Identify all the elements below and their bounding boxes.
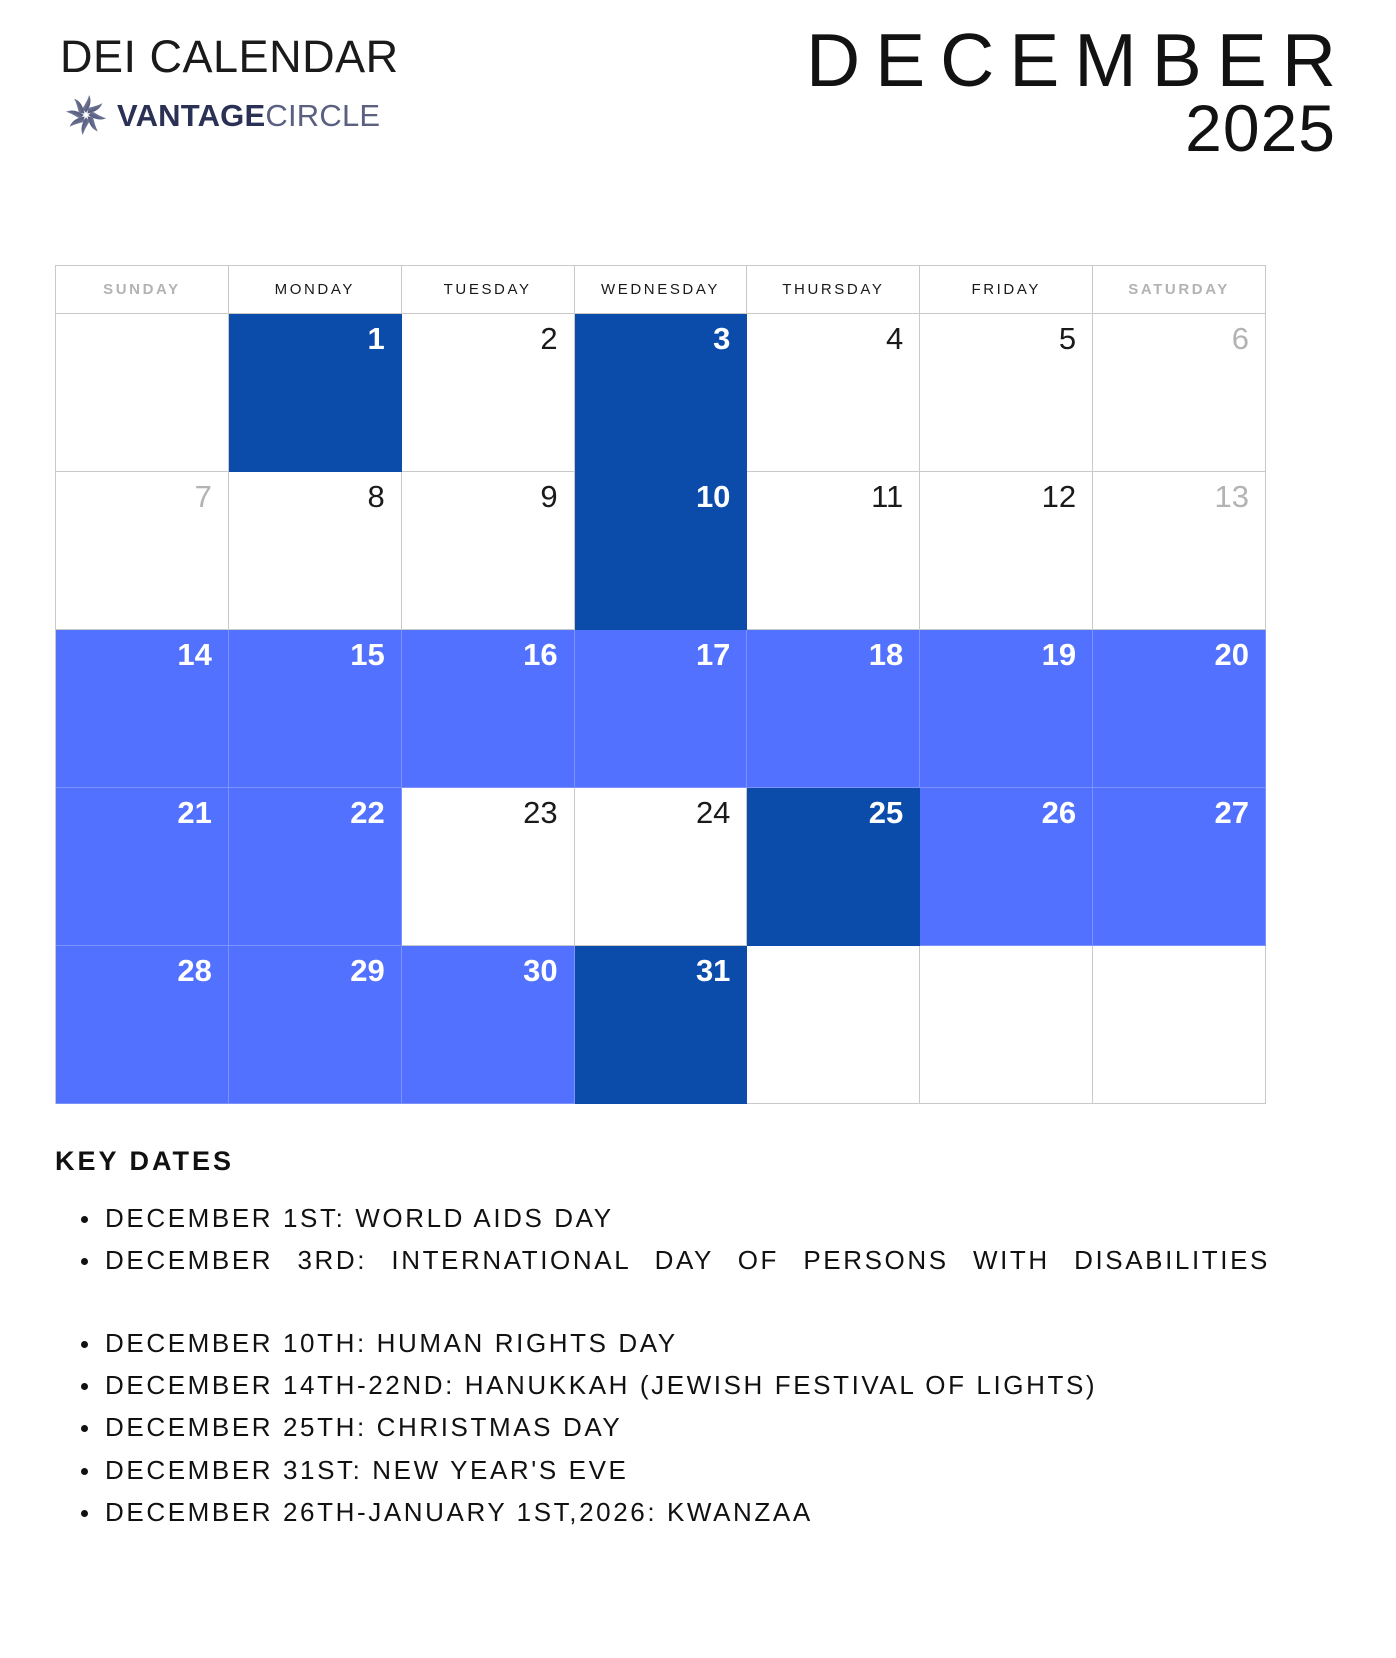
calendar-day-cell[interactable]: 14 — [56, 630, 229, 788]
calendar-day-cell[interactable]: 28 — [56, 946, 229, 1104]
calendar-empty-cell — [920, 946, 1093, 1104]
day-number: 9 — [402, 481, 558, 514]
day-number: 18 — [747, 639, 903, 672]
key-date-text: DECEMBER 10TH: HUMAN RIGHTS DAY — [105, 1328, 678, 1358]
calendar-day-cell[interactable]: 15 — [229, 630, 402, 788]
bullet-icon — [81, 1383, 88, 1390]
calendar-day-cell[interactable]: 16 — [402, 630, 575, 788]
calendar-day-cell[interactable]: 18 — [747, 630, 920, 788]
weekday-header-sunday: SUNDAY — [56, 266, 229, 314]
key-date-text: DECEMBER 25TH: CHRISTMAS DAY — [105, 1412, 622, 1442]
dei-calendar-page: DEI CALENDAR — [0, 0, 1396, 1658]
calendar-day-cell[interactable]: 21 — [56, 788, 229, 946]
day-number: 23 — [402, 797, 558, 830]
calendar-day-cell[interactable]: 26 — [920, 788, 1093, 946]
calendar-day-cell[interactable]: 24 — [575, 788, 748, 946]
calendar-day-cell[interactable]: 17 — [575, 630, 748, 788]
calendar-day-cell[interactable]: 13 — [1093, 472, 1266, 630]
calendar-day-cell[interactable]: 12 — [920, 472, 1093, 630]
bullet-icon — [81, 1468, 88, 1475]
calendar-empty-cell — [56, 314, 229, 472]
brand-logo-text-bold: VANTAGE — [117, 98, 265, 133]
day-number: 1 — [229, 323, 385, 356]
calendar-day-cell[interactable]: 4 — [747, 314, 920, 472]
day-number: 28 — [56, 955, 212, 988]
brand-logo-text-light: CIRCLE — [265, 98, 380, 133]
key-date-text: DECEMBER 14TH-22ND: HANUKKAH (JEWISH FES… — [105, 1370, 1097, 1400]
calendar-day-cell[interactable]: 19 — [920, 630, 1093, 788]
calendar-day-cell[interactable]: 27 — [1093, 788, 1266, 946]
day-number: 10 — [575, 481, 731, 514]
key-date-item: DECEMBER 25TH: CHRISTMAS DAY — [55, 1407, 1270, 1447]
day-number: 15 — [229, 639, 385, 672]
bullet-icon — [81, 1258, 88, 1265]
calendar-day-cell[interactable]: 31 — [575, 946, 748, 1104]
day-number: 22 — [229, 797, 385, 830]
calendar-day-cell[interactable]: 29 — [229, 946, 402, 1104]
day-number: 31 — [575, 955, 731, 988]
calendar-day-cell[interactable]: 10 — [575, 472, 748, 630]
key-dates-title: KEY DATES — [55, 1146, 1270, 1177]
calendar-day-cell[interactable]: 23 — [402, 788, 575, 946]
calendar-day-cell[interactable]: 7 — [56, 472, 229, 630]
key-dates-section: KEY DATES DECEMBER 1ST: WORLD AIDS DAYDE… — [55, 1146, 1270, 1534]
key-date-item: DECEMBER 3RD: INTERNATIONAL DAY OF PERSO… — [55, 1240, 1270, 1321]
calendar-day-cell[interactable]: 8 — [229, 472, 402, 630]
month-year: 2025 — [806, 95, 1336, 162]
day-number: 30 — [402, 955, 558, 988]
day-number: 20 — [1093, 639, 1249, 672]
vantage-circle-logo: VANTAGECIRCLE — [60, 92, 399, 138]
day-number: 2 — [402, 323, 558, 356]
month-name: DECEMBER — [806, 22, 1351, 99]
key-date-item: DECEMBER 14TH-22ND: HANUKKAH (JEWISH FES… — [55, 1365, 1270, 1405]
day-number: 11 — [747, 481, 903, 514]
weekday-header-saturday: SATURDAY — [1093, 266, 1266, 314]
weekday-header-monday: MONDAY — [229, 266, 402, 314]
day-number: 21 — [56, 797, 212, 830]
day-number: 8 — [229, 481, 385, 514]
key-date-item: DECEMBER 31ST: NEW YEAR'S EVE — [55, 1450, 1270, 1490]
day-number: 16 — [402, 639, 558, 672]
calendar-empty-cell — [1093, 946, 1266, 1104]
weekday-header-tuesday: TUESDAY — [402, 266, 575, 314]
calendar-day-cell[interactable]: 30 — [402, 946, 575, 1104]
day-number: 26 — [920, 797, 1076, 830]
key-dates-list: DECEMBER 1ST: WORLD AIDS DAYDECEMBER 3RD… — [55, 1198, 1270, 1532]
key-date-item: DECEMBER 26TH-JANUARY 1ST,2026: KWANZAA — [55, 1492, 1270, 1532]
bullet-icon — [81, 1425, 88, 1432]
calendar-day-cell[interactable]: 22 — [229, 788, 402, 946]
day-number: 25 — [747, 797, 903, 830]
weekday-header-friday: FRIDAY — [920, 266, 1093, 314]
brand-block: DEI CALENDAR — [60, 34, 399, 138]
month-heading: DECEMBER 2025 — [806, 22, 1336, 162]
calendar-day-cell[interactable]: 6 — [1093, 314, 1266, 472]
page-title: DEI CALENDAR — [60, 34, 399, 79]
key-date-text: DECEMBER 1ST: WORLD AIDS DAY — [105, 1203, 614, 1233]
bullet-icon — [81, 1341, 88, 1348]
day-number: 24 — [575, 797, 731, 830]
day-number: 27 — [1093, 797, 1249, 830]
day-number: 6 — [1093, 323, 1249, 356]
vantage-pinwheel-logo-icon — [60, 92, 112, 138]
day-number: 14 — [56, 639, 212, 672]
calendar-day-cell[interactable]: 9 — [402, 472, 575, 630]
key-date-item: DECEMBER 1ST: WORLD AIDS DAY — [55, 1198, 1270, 1238]
day-number: 4 — [747, 323, 903, 356]
calendar-weekday-header-row: SUNDAYMONDAYTUESDAYWEDNESDAYTHURSDAYFRID… — [55, 265, 1266, 314]
key-date-text: DECEMBER 31ST: NEW YEAR'S EVE — [105, 1455, 628, 1485]
bullet-icon — [81, 1216, 88, 1223]
page-header: DEI CALENDAR — [0, 0, 1396, 240]
day-number: 12 — [920, 481, 1076, 514]
brand-logo-text: VANTAGECIRCLE — [117, 100, 380, 131]
weekday-header-wednesday: WEDNESDAY — [575, 266, 748, 314]
calendar-day-cell[interactable]: 5 — [920, 314, 1093, 472]
key-date-item: DECEMBER 10TH: HUMAN RIGHTS DAY — [55, 1323, 1270, 1363]
key-date-text: DECEMBER 26TH-JANUARY 1ST,2026: KWANZAA — [105, 1497, 813, 1527]
calendar-day-grid: 1234567891011121314151617181920212223242… — [55, 314, 1266, 1104]
day-number: 3 — [575, 323, 731, 356]
day-number: 29 — [229, 955, 385, 988]
calendar-day-cell[interactable]: 3 — [575, 314, 748, 472]
day-number: 17 — [575, 639, 731, 672]
calendar-grid: SUNDAYMONDAYTUESDAYWEDNESDAYTHURSDAYFRID… — [55, 265, 1266, 1104]
calendar-day-cell[interactable]: 11 — [747, 472, 920, 630]
calendar-day-cell[interactable]: 20 — [1093, 630, 1266, 788]
bullet-icon — [81, 1510, 88, 1517]
key-date-text: DECEMBER 3RD: INTERNATIONAL DAY OF PERSO… — [105, 1245, 1270, 1275]
day-number: 7 — [56, 481, 212, 514]
calendar-day-cell[interactable]: 25 — [747, 788, 920, 946]
weekday-header-thursday: THURSDAY — [747, 266, 920, 314]
day-number: 13 — [1093, 481, 1249, 514]
calendar-day-cell[interactable]: 1 — [229, 314, 402, 472]
day-number: 5 — [920, 323, 1076, 356]
day-number: 19 — [920, 639, 1076, 672]
calendar-day-cell[interactable]: 2 — [402, 314, 575, 472]
calendar-empty-cell — [747, 946, 920, 1104]
